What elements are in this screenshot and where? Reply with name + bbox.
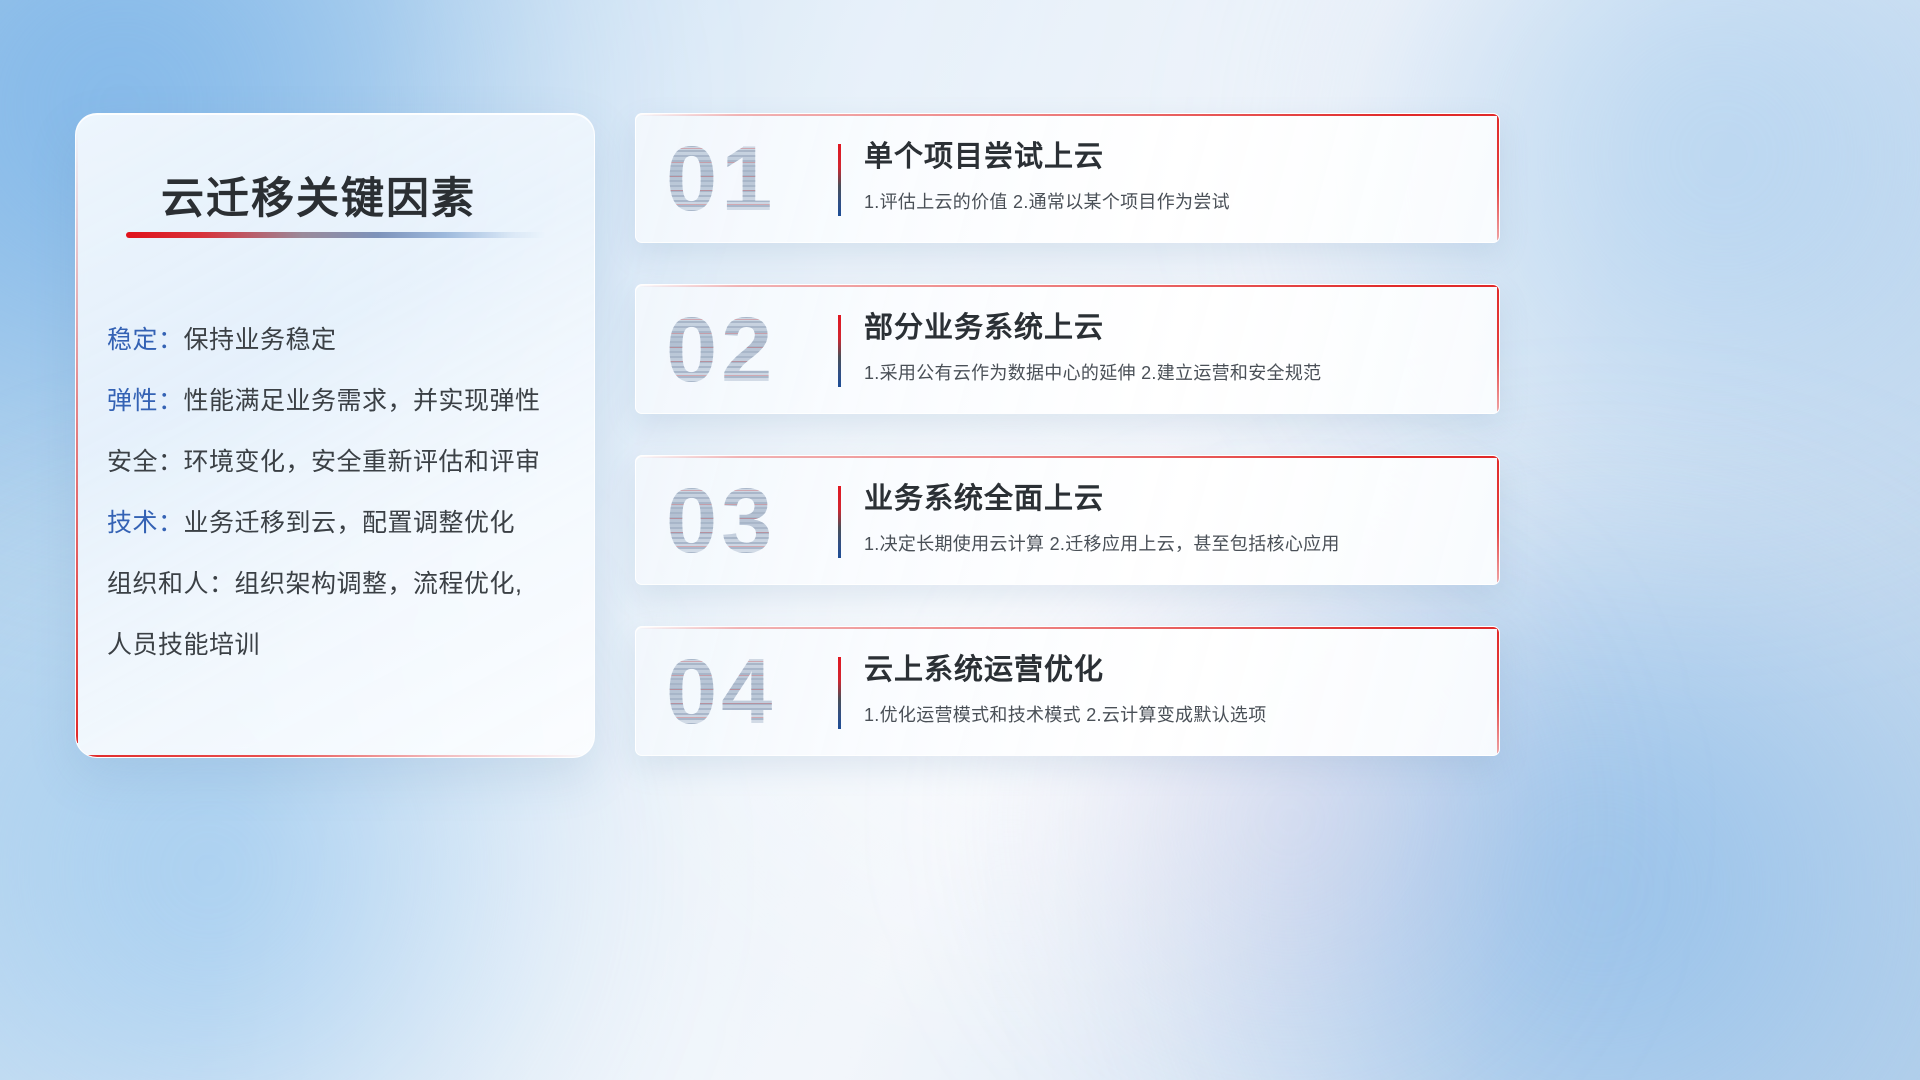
list-item: 稳定：保持业务稳定: [107, 310, 574, 371]
list-item-text: 人员技能培训: [107, 631, 260, 659]
card-accent-divider: [838, 315, 841, 387]
card-description: 1.决定长期使用云计算 2.迁移应用上云，甚至包括核心应用: [864, 531, 1469, 557]
card-title: 单个项目尝试上云: [864, 136, 1469, 178]
list-item: 弹性：性能满足业务需求，并实现弹性: [107, 371, 574, 432]
list-item-key: 弹性：: [107, 387, 184, 415]
list-item: 人员技能培训: [107, 615, 574, 676]
card-accent-divider: [838, 486, 841, 558]
stage-card[interactable]: 01 01 单个项目尝试上云 1.评估上云的价值 2.通常以某个项目作为尝试: [635, 113, 1500, 243]
stage-card[interactable]: 02 02 部分业务系统上云 1.采用公有云作为数据中心的延伸 2.建立运营和安…: [635, 284, 1500, 414]
card-accent-divider: [838, 657, 841, 729]
list-item-text: 保持业务稳定: [184, 326, 337, 354]
stage-card[interactable]: 03 03 业务系统全面上云 1.决定长期使用云计算 2.迁移应用上云，甚至包括…: [635, 455, 1500, 585]
card-description: 1.优化运营模式和技术模式 2.云计算变成默认选项: [864, 702, 1469, 728]
list-item-text: 性能满足业务需求，并实现弹性: [184, 387, 541, 415]
list-item-text: 业务迁移到云，配置调整优化: [184, 509, 516, 537]
list-item-text: 环境变化，安全重新评估和评审: [184, 448, 541, 476]
list-item-key: 安全：: [107, 448, 184, 476]
list-item-key: 稳定：: [107, 326, 184, 354]
list-item-key: 组织和人：: [107, 570, 235, 598]
card-title: 部分业务系统上云: [864, 307, 1469, 349]
stage-card[interactable]: 04 04 云上系统运营优化 1.优化运营模式和技术模式 2.云计算变成默认选项: [635, 626, 1500, 756]
card-body: 单个项目尝试上云 1.评估上云的价值 2.通常以某个项目作为尝试: [864, 136, 1469, 215]
card-body: 部分业务系统上云 1.采用公有云作为数据中心的延伸 2.建立运营和安全规范: [864, 307, 1469, 386]
key-factors-list: 稳定：保持业务稳定 弹性：性能满足业务需求，并实现弹性 安全：环境变化，安全重新…: [107, 310, 574, 676]
card-description: 1.评估上云的价值 2.通常以某个项目作为尝试: [864, 189, 1469, 215]
migration-stage-cards: 01 01 单个项目尝试上云 1.评估上云的价值 2.通常以某个项目作为尝试 0…: [635, 113, 1500, 797]
title-underline-rule: [126, 232, 546, 238]
card-title: 业务系统全面上云: [864, 478, 1469, 520]
list-item: 安全：环境变化，安全重新评估和评审: [107, 432, 574, 493]
card-body: 业务系统全面上云 1.决定长期使用云计算 2.迁移应用上云，甚至包括核心应用: [864, 478, 1469, 557]
card-title: 云上系统运营优化: [864, 649, 1469, 691]
list-item-text: 组织架构调整，流程优化,: [235, 570, 523, 598]
stage-number: 01: [666, 120, 836, 238]
page-title: 云迁移关键因素: [161, 164, 476, 226]
key-factors-panel: 云迁移关键因素 稳定：保持业务稳定 弹性：性能满足业务需求，并实现弹性 安全：环…: [75, 113, 595, 758]
stage-number: 04: [666, 633, 836, 751]
stage-number: 03: [666, 462, 836, 580]
card-body: 云上系统运营优化 1.优化运营模式和技术模式 2.云计算变成默认选项: [864, 649, 1469, 728]
list-item: 组织和人：组织架构调整，流程优化,: [107, 554, 574, 615]
stage-number: 02: [666, 291, 836, 409]
list-item-key: 技术：: [107, 509, 184, 537]
list-item: 技术：业务迁移到云，配置调整优化: [107, 493, 574, 554]
card-description: 1.采用公有云作为数据中心的延伸 2.建立运营和安全规范: [864, 360, 1469, 386]
card-accent-divider: [838, 144, 841, 216]
slide-content: 云迁移关键因素 稳定：保持业务稳定 弹性：性能满足业务需求，并实现弹性 安全：环…: [0, 0, 1920, 1080]
